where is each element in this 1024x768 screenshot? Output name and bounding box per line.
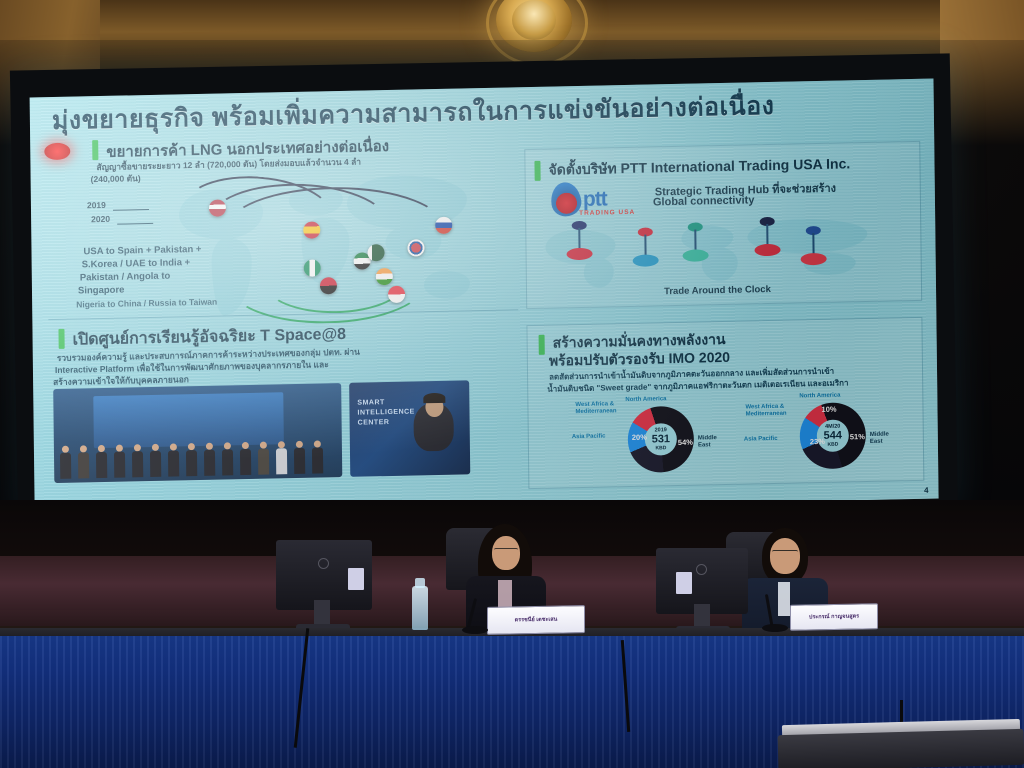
donut2-label-ap: Asia Pacific	[744, 436, 778, 443]
glasses-right-icon	[772, 550, 798, 557]
slide-page-number: 4	[924, 486, 929, 495]
shirt-right	[778, 582, 790, 616]
bottle-cap	[415, 578, 425, 588]
slide-title-text: มุ่งขยายธุรกิจ พร้อมเพิ่มความสามารถในการ…	[52, 92, 775, 135]
donut1-label-na: North America	[625, 396, 666, 403]
presentation-slide: มุ่งขยายธุรกิจ พร้อมเพิ่มความสามารถในการ…	[30, 79, 939, 518]
donut2-label-me: Middle East	[870, 431, 902, 446]
route-line-4: Singapore	[78, 285, 125, 297]
donut1-pct-me: 54%	[678, 438, 693, 447]
smart-center-caption: SMART INTELLIGENCE CENTER	[357, 397, 417, 428]
green-bar-lng	[92, 140, 98, 160]
green-bar-usa	[534, 161, 540, 181]
monitor-right-sticker	[676, 572, 692, 594]
donut2-value: 544	[824, 430, 843, 442]
projection-screen: มุ่งขยายธุรกิจ พร้อมเพิ่มความสามารถในการ…	[10, 53, 958, 530]
donut1-label-ap: Asia Pacific	[572, 433, 606, 440]
route-line-2: S.Korea / UAE to India +	[82, 257, 191, 270]
tspace-smart-center-photo: SMART INTELLIGENCE CENTER	[349, 380, 470, 477]
ptt-logo-tagline: TRADING USA	[579, 209, 635, 217]
year-2019-rule	[113, 209, 149, 211]
laptop-base	[778, 729, 1024, 768]
lng-year-2019: 2019	[87, 200, 106, 210]
donut2-label-na: North America	[799, 393, 840, 400]
usa-caption: Trade Around the Clock	[664, 284, 771, 297]
slide-title: มุ่งขยายธุรกิจ พร้อมเพิ่มความสามารถในการ…	[52, 86, 775, 141]
donut1-pct-ap: 20%	[632, 433, 647, 442]
microphone-left-base	[462, 626, 488, 634]
donut2-pct-ap: 23%	[810, 437, 825, 446]
donut1-unit: KBD	[656, 445, 667, 451]
lng-year-2020: 2020	[91, 214, 110, 224]
green-bar-imo	[539, 335, 545, 355]
conference-room-scene: มุ่งขยายธุรกิจ พร้อมเพิ่มความสามารถในการ…	[0, 0, 1024, 768]
usa-line-2: Global connectivity	[653, 194, 755, 208]
dell-logo-icon	[318, 558, 329, 569]
water-bottle	[412, 586, 428, 630]
donut2-pct-na: 10%	[821, 405, 836, 414]
usa-world-map-graphic	[541, 215, 904, 293]
bullet-dot-icon	[44, 143, 70, 161]
green-bar-tspace	[58, 329, 64, 349]
dell-logo-icon-2	[696, 564, 707, 575]
nameplate-left: ดรรชนีย์ เตชะเสน	[487, 605, 585, 635]
nameplate-right: ประกรณ์ กาญจนสูตร	[790, 603, 878, 631]
glasses-left-icon	[494, 548, 518, 555]
lng-sub2: (240,000 ตัน)	[91, 171, 141, 186]
ptt-logo-word: ptt	[583, 187, 607, 211]
route-line-3: Pakistan / Angola to	[80, 271, 171, 284]
donut1-label-wa: West Africa & Mediterranean	[575, 401, 621, 416]
donut2-pct-me: 51%	[850, 432, 865, 441]
donut2-unit: KBD	[827, 442, 838, 448]
tspace-group-photo	[53, 383, 342, 483]
donut1-label-me: Middle East	[698, 435, 730, 450]
donut1-value: 531	[652, 433, 671, 445]
monitor-left-sticker	[348, 568, 364, 590]
microphone-right-base	[762, 624, 788, 632]
year-2020-rule	[117, 223, 153, 225]
donut2-label-wa: West Africa & Mediterranean	[745, 404, 791, 419]
